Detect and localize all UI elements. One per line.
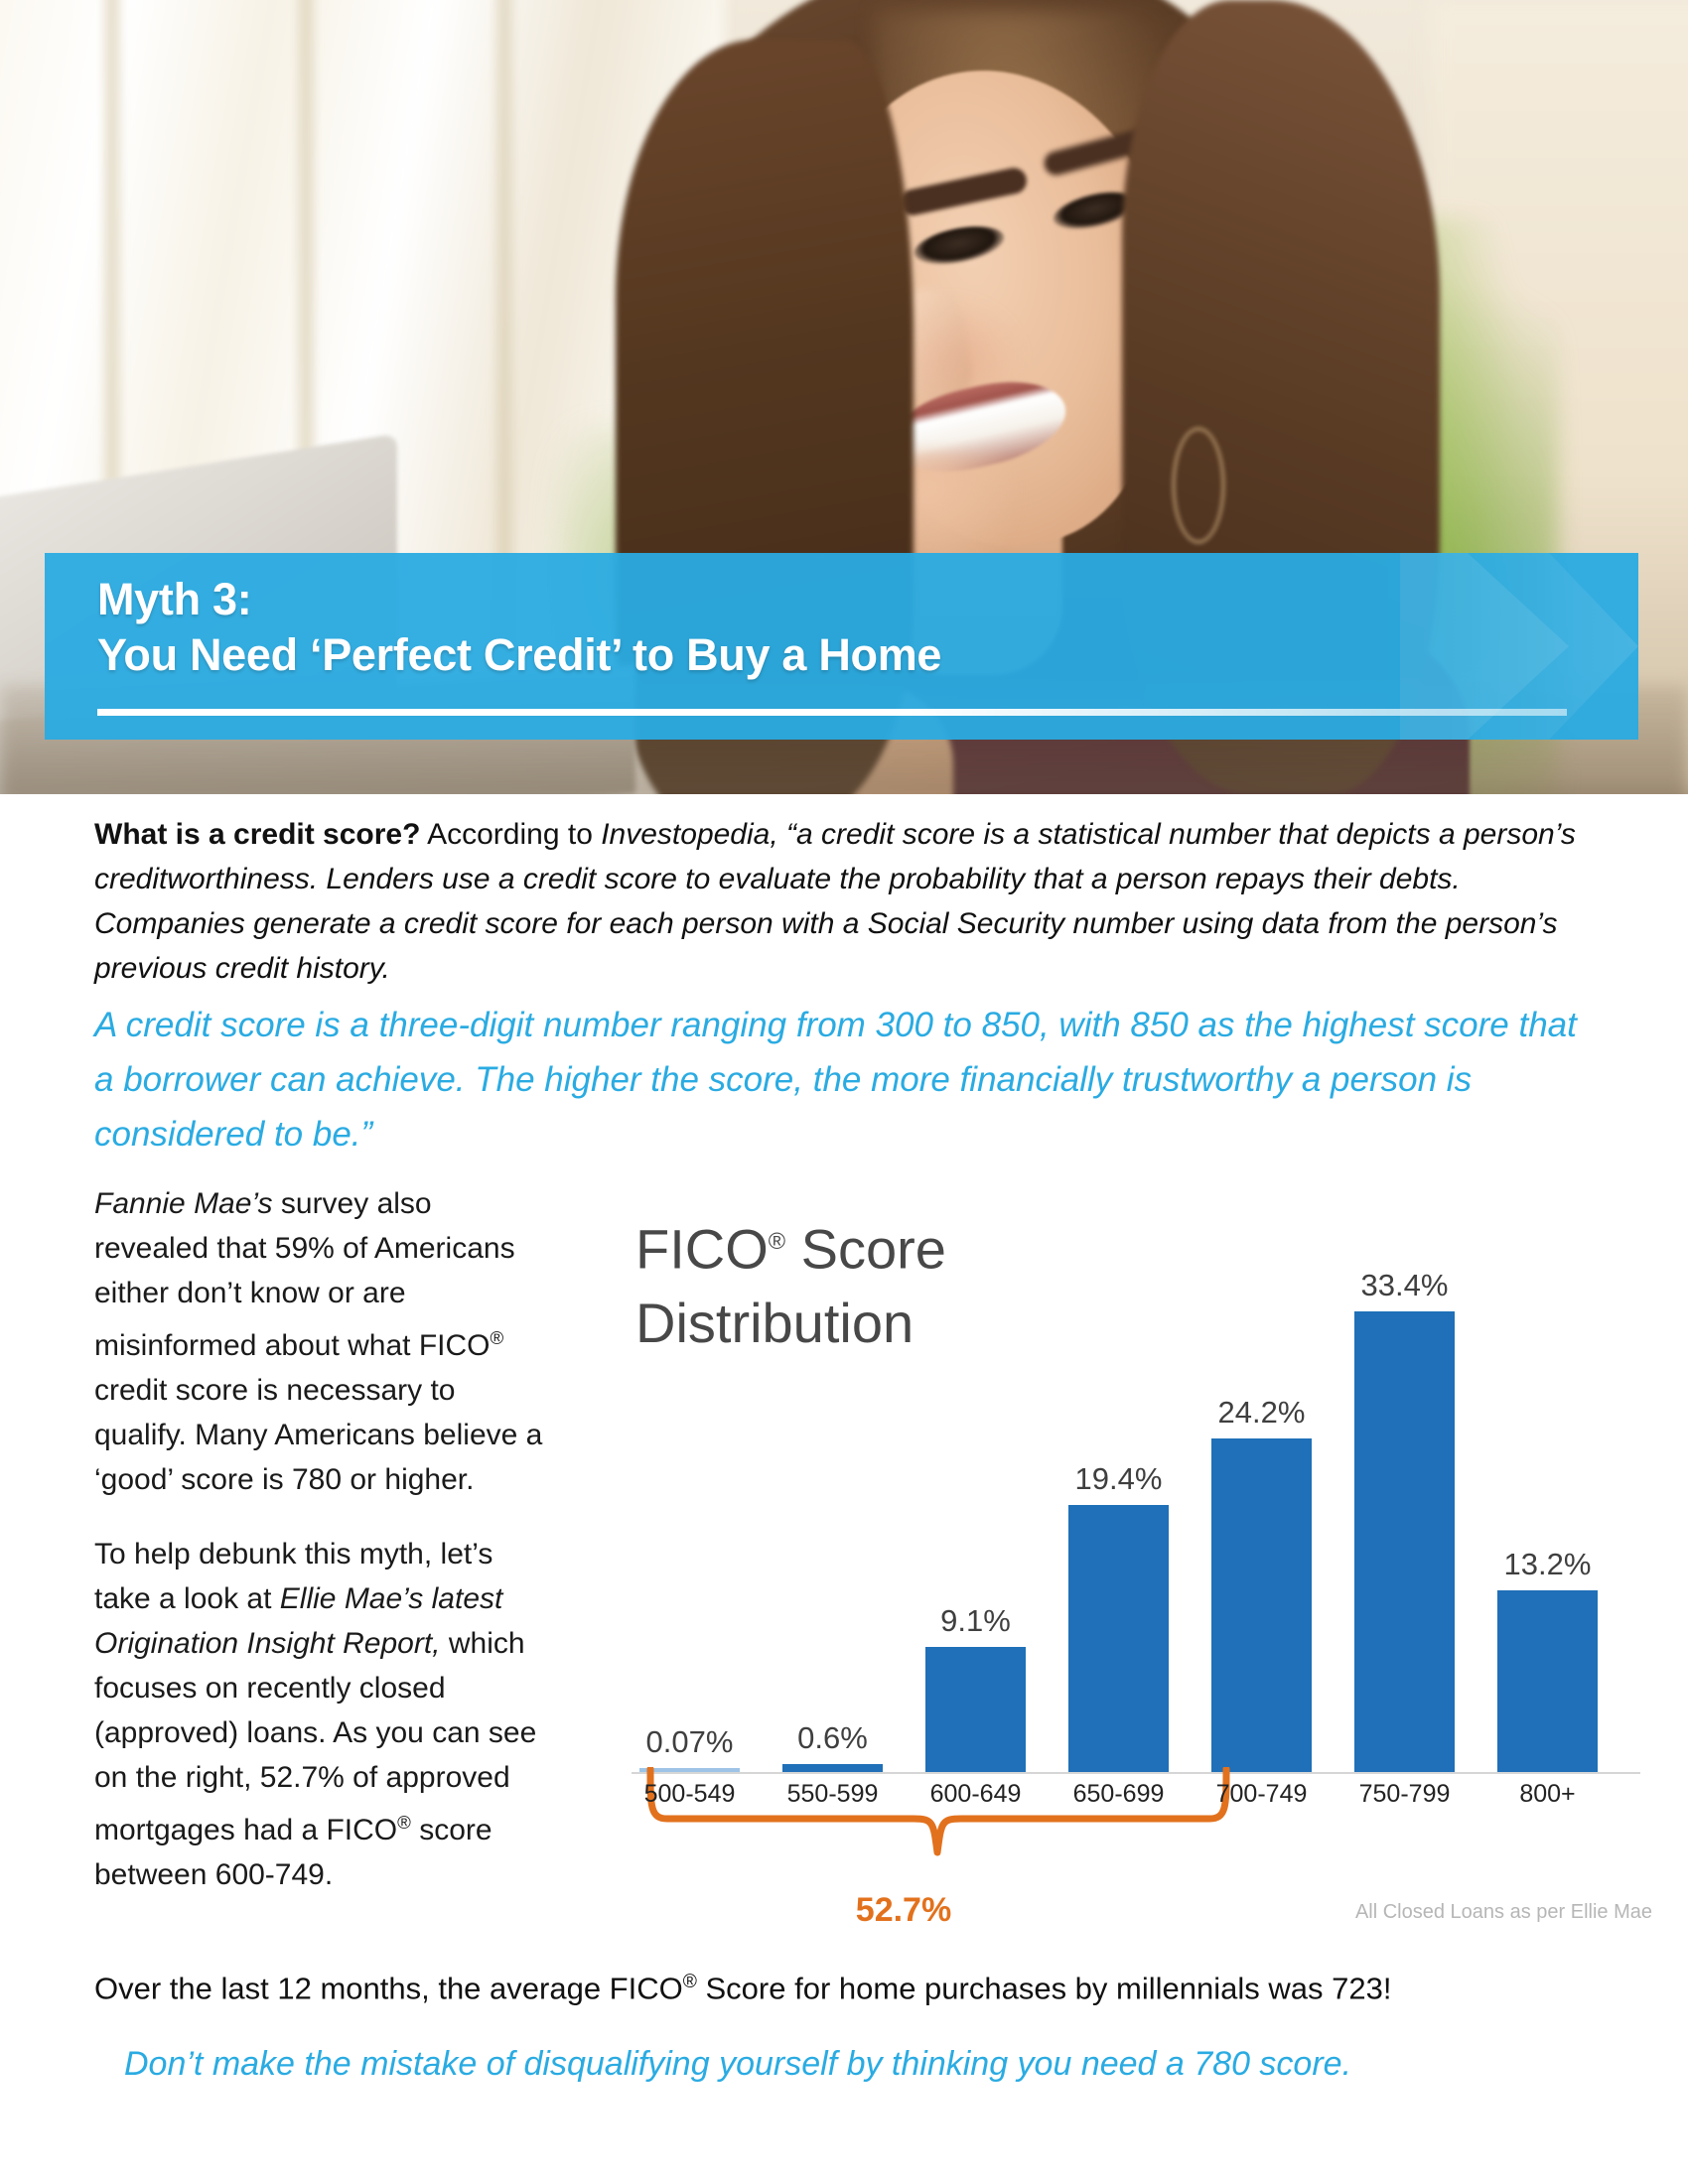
x-axis-tick-label: 550-599 [774, 1780, 891, 1809]
hoop-earring [1172, 427, 1225, 544]
chart-bar [1497, 1590, 1598, 1772]
chart-title-score: Score [785, 1218, 946, 1281]
fannie-mae-italic: Fannie Mae’s [94, 1187, 273, 1220]
chart-plot-area: 0.07%0.6%9.1%19.4%24.2%33.4%13.2% [632, 1276, 1634, 1772]
closing-call-to-action: Don’t make the mistake of disqualifying … [124, 2040, 1633, 2088]
chart-bar [1211, 1438, 1312, 1772]
chart-bar [1354, 1311, 1455, 1772]
bar-value-label: 13.2% [1489, 1547, 1606, 1582]
registered-mark-icon: ® [397, 1812, 411, 1833]
x-axis-tick-label: 800+ [1489, 1780, 1606, 1809]
intro-paragraph: What is a credit score? According to Inv… [94, 812, 1594, 991]
x-axis-tick-label: 500-549 [632, 1780, 748, 1809]
registered-mark-icon: ® [490, 1327, 503, 1348]
bar-value-label: 33.4% [1346, 1268, 1463, 1303]
bar-value-label: 0.6% [774, 1720, 891, 1756]
millennial-average-score-line: Over the last 12 months, the average FIC… [94, 1961, 1604, 2010]
registered-mark-icon: ® [769, 1228, 785, 1254]
bar-value-label: 19.4% [1060, 1461, 1177, 1497]
left-p1-rest-b: credit score is necessary to qualify. Ma… [94, 1374, 542, 1496]
x-axis-tick-label: 650-699 [1060, 1780, 1177, 1809]
intro-rest-1: According to [420, 818, 601, 851]
intro-lead: What is a credit score? [94, 818, 420, 851]
brace-value-label: 52.7% [705, 1891, 1102, 1930]
left-paragraph-1: Fannie Mae’s survey also revealed that 5… [94, 1181, 546, 1502]
bar-value-label: 9.1% [917, 1603, 1034, 1639]
left-column-text: Fannie Mae’s survey also revealed that 5… [94, 1181, 546, 1927]
registered-mark-icon: ® [683, 1972, 697, 1992]
bar-slot: 9.1% [917, 1276, 1034, 1772]
chart-bar [1068, 1505, 1169, 1772]
bar-slot: 0.6% [774, 1276, 891, 1772]
bottom-stat-b: Score for home purchases by millennials … [697, 1971, 1392, 2005]
chart-source-note: All Closed Loans as per Ellie Mae [1355, 1901, 1652, 1924]
left-paragraph-2: To help debunk this myth, let’s take a l… [94, 1532, 546, 1897]
chart-title-fico: FICO [635, 1218, 769, 1281]
x-axis-tick-label: 700-749 [1203, 1780, 1320, 1809]
bar-slot: 33.4% [1346, 1276, 1463, 1772]
bar-value-label: 24.2% [1203, 1395, 1320, 1431]
chart-bar [925, 1647, 1026, 1772]
bar-slot: 24.2% [1203, 1276, 1320, 1772]
banner-title: Myth 3: [97, 574, 251, 625]
banner-divider-rule [97, 709, 1567, 716]
bottom-stat-a: Over the last 12 months, the average FIC… [94, 1971, 683, 2005]
x-axis-tick-label: 600-649 [917, 1780, 1034, 1809]
x-axis-tick-label: 750-799 [1346, 1780, 1463, 1809]
bar-value-label: 0.07% [632, 1724, 748, 1760]
bar-slot: 19.4% [1060, 1276, 1177, 1772]
fico-score-distribution-chart: FICO® Score Distribution 0.07%0.6%9.1%19… [596, 1186, 1658, 1921]
banner-subtitle: You Need ‘Perfect Credit’ to Buy a Home [97, 629, 941, 681]
intro-source: Investopedia [601, 818, 770, 851]
credit-score-definition-quote: A credit score is a three-digit number r… [94, 998, 1594, 1161]
bar-slot: 13.2% [1489, 1276, 1606, 1772]
bar-slot: 0.07% [632, 1276, 748, 1772]
